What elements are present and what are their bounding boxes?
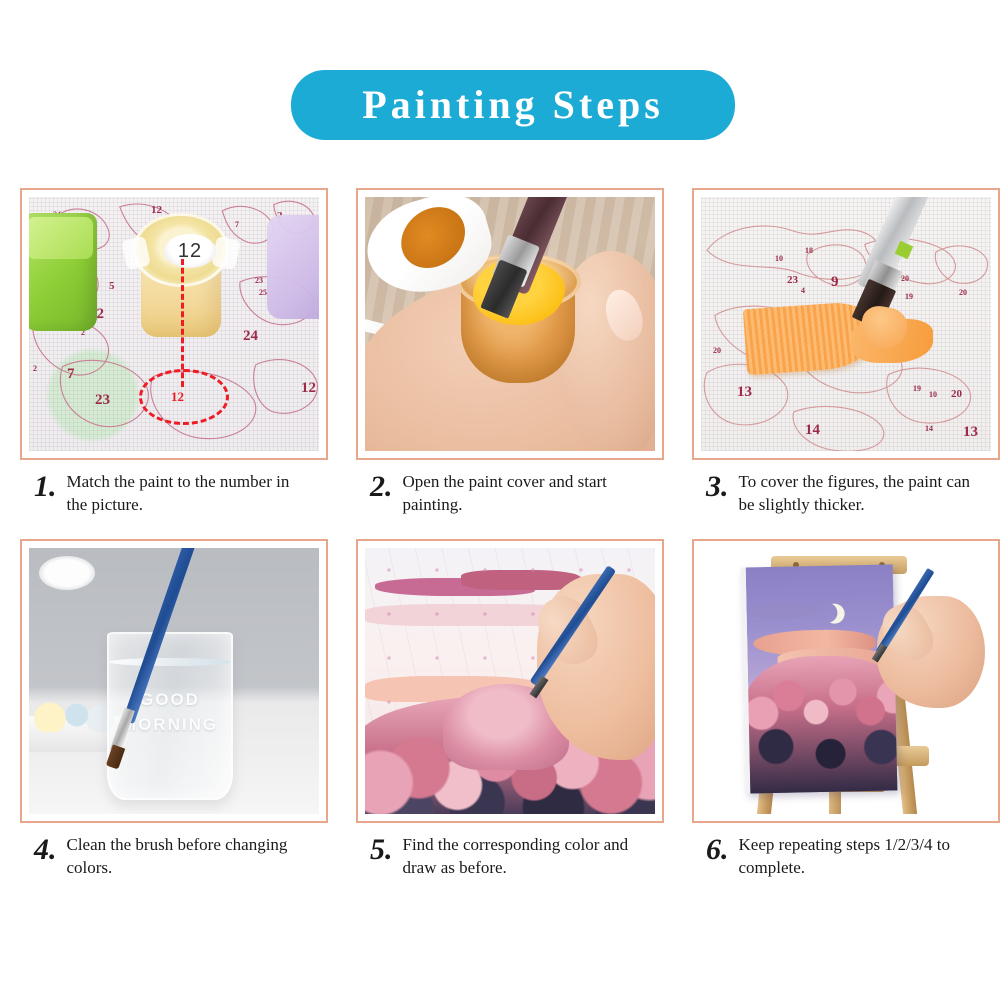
canvas-number: 10 bbox=[775, 255, 783, 263]
canvas-number: 2 bbox=[33, 365, 37, 373]
step-6-caption: 6. Keep repeating steps 1/2/3/4 to compl… bbox=[692, 823, 1000, 880]
open-paint-pot-with-brush-photo bbox=[365, 197, 655, 451]
finished-painting-on-easel-photo bbox=[701, 548, 991, 814]
finished-canvas bbox=[741, 564, 898, 793]
canvas-target-number: 12 bbox=[171, 389, 184, 405]
step-3-caption: 3. To cover the figures, the paint can b… bbox=[692, 460, 1000, 517]
crescent-moon bbox=[822, 600, 848, 626]
canvas-number: 5 bbox=[109, 281, 115, 292]
canvas-number: 23 bbox=[255, 277, 263, 285]
canvas-number: 20 bbox=[951, 389, 962, 400]
canvas-number: 18 bbox=[805, 247, 813, 255]
canvas-number: 13 bbox=[737, 385, 752, 400]
canvas-number: 4 bbox=[801, 287, 805, 295]
canvas-number: 14 bbox=[925, 425, 933, 433]
paint-pot-number-label: 12 bbox=[164, 234, 216, 268]
step-number: 2. bbox=[370, 472, 393, 502]
step-description: Keep repeating steps 1/2/3/4 to complete… bbox=[739, 833, 977, 880]
canvas-number: 24 bbox=[243, 329, 258, 344]
canvas-number: 7 bbox=[235, 221, 239, 229]
canvas-number: 20 bbox=[959, 289, 967, 297]
step-2-caption: 2. Open the paint cover and start painti… bbox=[356, 460, 664, 517]
canvas-number: 23 bbox=[95, 393, 110, 408]
step-card-6: 6. Keep repeating steps 1/2/3/4 to compl… bbox=[692, 539, 1000, 880]
blurred-background-object bbox=[39, 556, 95, 590]
water-surface bbox=[109, 658, 231, 666]
canvas-number: 10 bbox=[929, 391, 937, 399]
step-description: To cover the figures, the paint can be s… bbox=[739, 470, 977, 517]
steps-grid: 24 12 2 7 6 5 12 2 7 2 23 24 23 25 bbox=[20, 188, 980, 902]
step-description: Clean the brush before changing colors. bbox=[67, 833, 305, 880]
step-5-caption: 5. Find the corresponding color and draw… bbox=[356, 823, 664, 880]
background-decor-objects bbox=[33, 698, 117, 732]
paint-pot-tab-left bbox=[121, 236, 151, 270]
green-paint-pot bbox=[29, 213, 97, 331]
paint-pot-matching-number-photo: 24 12 2 7 6 5 12 2 7 2 23 24 23 25 bbox=[29, 197, 319, 451]
step-card-5: 5. Find the corresponding color and draw… bbox=[356, 539, 664, 880]
canvas-number: 20 bbox=[901, 275, 909, 283]
step-6-photo-frame bbox=[692, 539, 1000, 823]
partially-painted-canvas-photo bbox=[365, 548, 655, 814]
canvas-number: 12 bbox=[301, 381, 316, 396]
lid-paint-residue bbox=[389, 197, 477, 281]
page-title: Painting Steps bbox=[362, 85, 664, 125]
canvas-number: 19 bbox=[913, 385, 921, 393]
brush-applying-orange-paint-photo: 10 18 23 9 4 20 19 20 20 20 13 19 10 20 bbox=[701, 197, 991, 451]
step-3-photo-frame: 10 18 23 9 4 20 19 20 20 20 13 19 10 20 bbox=[692, 188, 1000, 460]
step-description: Open the paint cover and start painting. bbox=[403, 470, 641, 517]
brush-in-water-glass-photo: GOOD MORNING bbox=[29, 548, 319, 814]
step-description: Find the corresponding color and draw as… bbox=[403, 833, 641, 880]
step-1-photo-frame: 24 12 2 7 6 5 12 2 7 2 23 24 23 25 bbox=[20, 188, 328, 460]
canvas-number: 23 bbox=[787, 275, 798, 286]
canvas-number: 14 bbox=[805, 423, 820, 438]
step-number: 1. bbox=[34, 472, 57, 502]
step-2-photo-frame bbox=[356, 188, 664, 460]
step-number: 6. bbox=[706, 835, 729, 865]
canvas-number: 7 bbox=[67, 367, 75, 382]
red-dashed-pointer-line bbox=[181, 259, 184, 387]
canvas-number: 19 bbox=[905, 293, 913, 301]
step-card-2: 2. Open the paint cover and start painti… bbox=[356, 188, 664, 517]
canvas-number: 13 bbox=[963, 425, 978, 440]
red-dashed-highlight-ellipse bbox=[139, 369, 229, 425]
step-4-caption: 4. Clean the brush before changing color… bbox=[20, 823, 328, 880]
painted-cherry-blossoms bbox=[744, 654, 898, 794]
steps-row-bottom: GOOD MORNING 4. Clean the brush before c… bbox=[20, 539, 980, 880]
step-5-photo-frame bbox=[356, 539, 664, 823]
steps-row-top: 24 12 2 7 6 5 12 2 7 2 23 24 23 25 bbox=[20, 188, 980, 517]
canvas-number: 9 bbox=[831, 275, 839, 290]
step-number: 5. bbox=[370, 835, 393, 865]
step-description: Match the paint to the number in the pic… bbox=[67, 470, 305, 517]
purple-paint-pot bbox=[267, 215, 319, 319]
canvas-number: 20 bbox=[713, 347, 721, 355]
step-card-3: 10 18 23 9 4 20 19 20 20 20 13 19 10 20 bbox=[692, 188, 1000, 517]
painted-cloud bbox=[746, 602, 816, 619]
step-4-photo-frame: GOOD MORNING bbox=[20, 539, 328, 823]
step-number: 4. bbox=[34, 835, 57, 865]
painting-steps-infographic: Painting Steps bbox=[0, 0, 1000, 1000]
step-card-4: GOOD MORNING 4. Clean the brush before c… bbox=[20, 539, 328, 880]
step-1-caption: 1. Match the paint to the number in the … bbox=[20, 460, 328, 517]
step-card-1: 24 12 2 7 6 5 12 2 7 2 23 24 23 25 bbox=[20, 188, 328, 517]
page-title-banner: Painting Steps bbox=[291, 70, 735, 140]
step-number: 3. bbox=[706, 472, 729, 502]
canvas-number: 25 bbox=[259, 289, 267, 297]
